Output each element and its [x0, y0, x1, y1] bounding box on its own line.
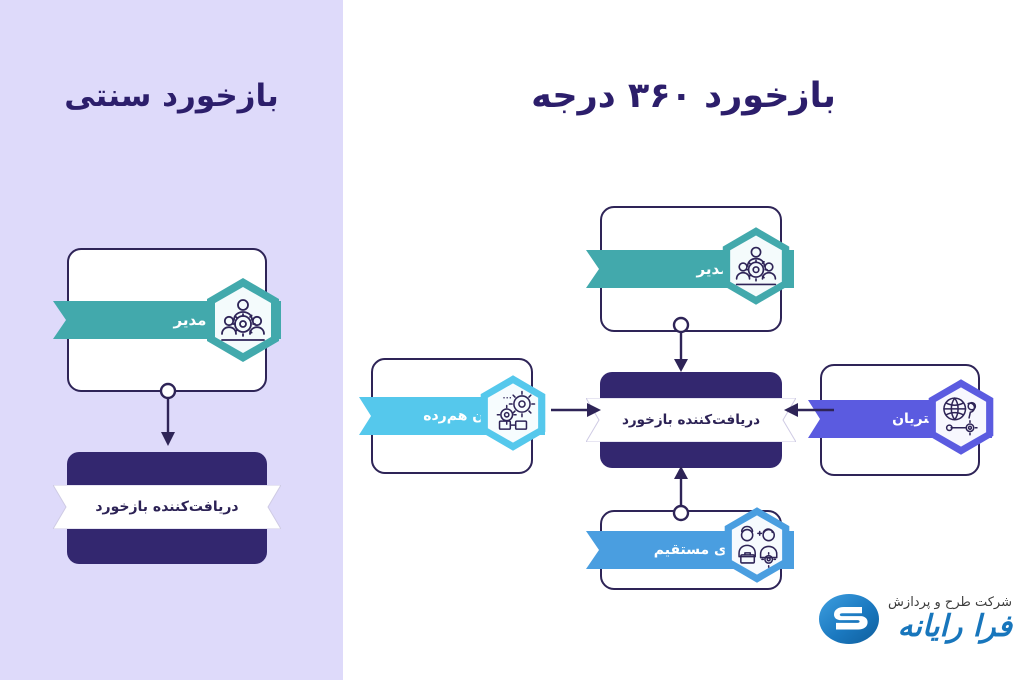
page-title-360: بازخورد ۳۶۰ درجه [343, 76, 1024, 116]
ribbon-label: دریافت‌کننده بازخورد [53, 499, 281, 515]
page-title-traditional: بازخورد سنتی [0, 78, 343, 114]
connector-direct-reports-to-center [661, 462, 701, 520]
logo-text: شرکت طرح و پردازش فرا رایانه [888, 596, 1012, 642]
team-gear-icon [204, 277, 282, 363]
node-360-manager[interactable]: مدیر [600, 206, 782, 332]
logo-subtitle: شرکت طرح و پردازش [888, 596, 1012, 609]
fara-rayaneh-logo-icon [818, 589, 880, 649]
two-people-icon [722, 506, 792, 584]
company-logo: شرکت طرح و پردازش فرا رایانه [806, 586, 1012, 652]
node-traditional-manager[interactable]: مدیر [67, 248, 267, 392]
ribbon-label: دریافت‌کننده بازخورد [586, 412, 796, 428]
node-360-customers[interactable]: مشتریان [820, 364, 980, 476]
node-360-peers[interactable]: کارکنان هم‌رده [371, 358, 533, 474]
node-360-center-receiver[interactable]: دریافت‌کننده بازخورد [600, 372, 782, 468]
node-360-direct-reports[interactable]: نیروهای مستقیم [600, 510, 782, 590]
node-traditional-receiver[interactable]: دریافت‌کننده بازخورد [67, 452, 267, 564]
globe-network-icon [926, 378, 996, 456]
gears-icon [478, 374, 548, 452]
ribbon-receiver: دریافت‌کننده بازخورد [53, 485, 281, 529]
team-gear-icon [720, 226, 792, 306]
infographic-canvas: بازخورد سنتی بازخورد ۳۶۰ درجه مدیر [0, 0, 1024, 680]
ribbon-360-receiver: دریافت‌کننده بازخورد [586, 398, 796, 442]
connector-manager-to-center [661, 318, 701, 376]
logo-title: فرا رایانه [898, 612, 1012, 642]
connector-manager-to-receiver [148, 384, 188, 450]
